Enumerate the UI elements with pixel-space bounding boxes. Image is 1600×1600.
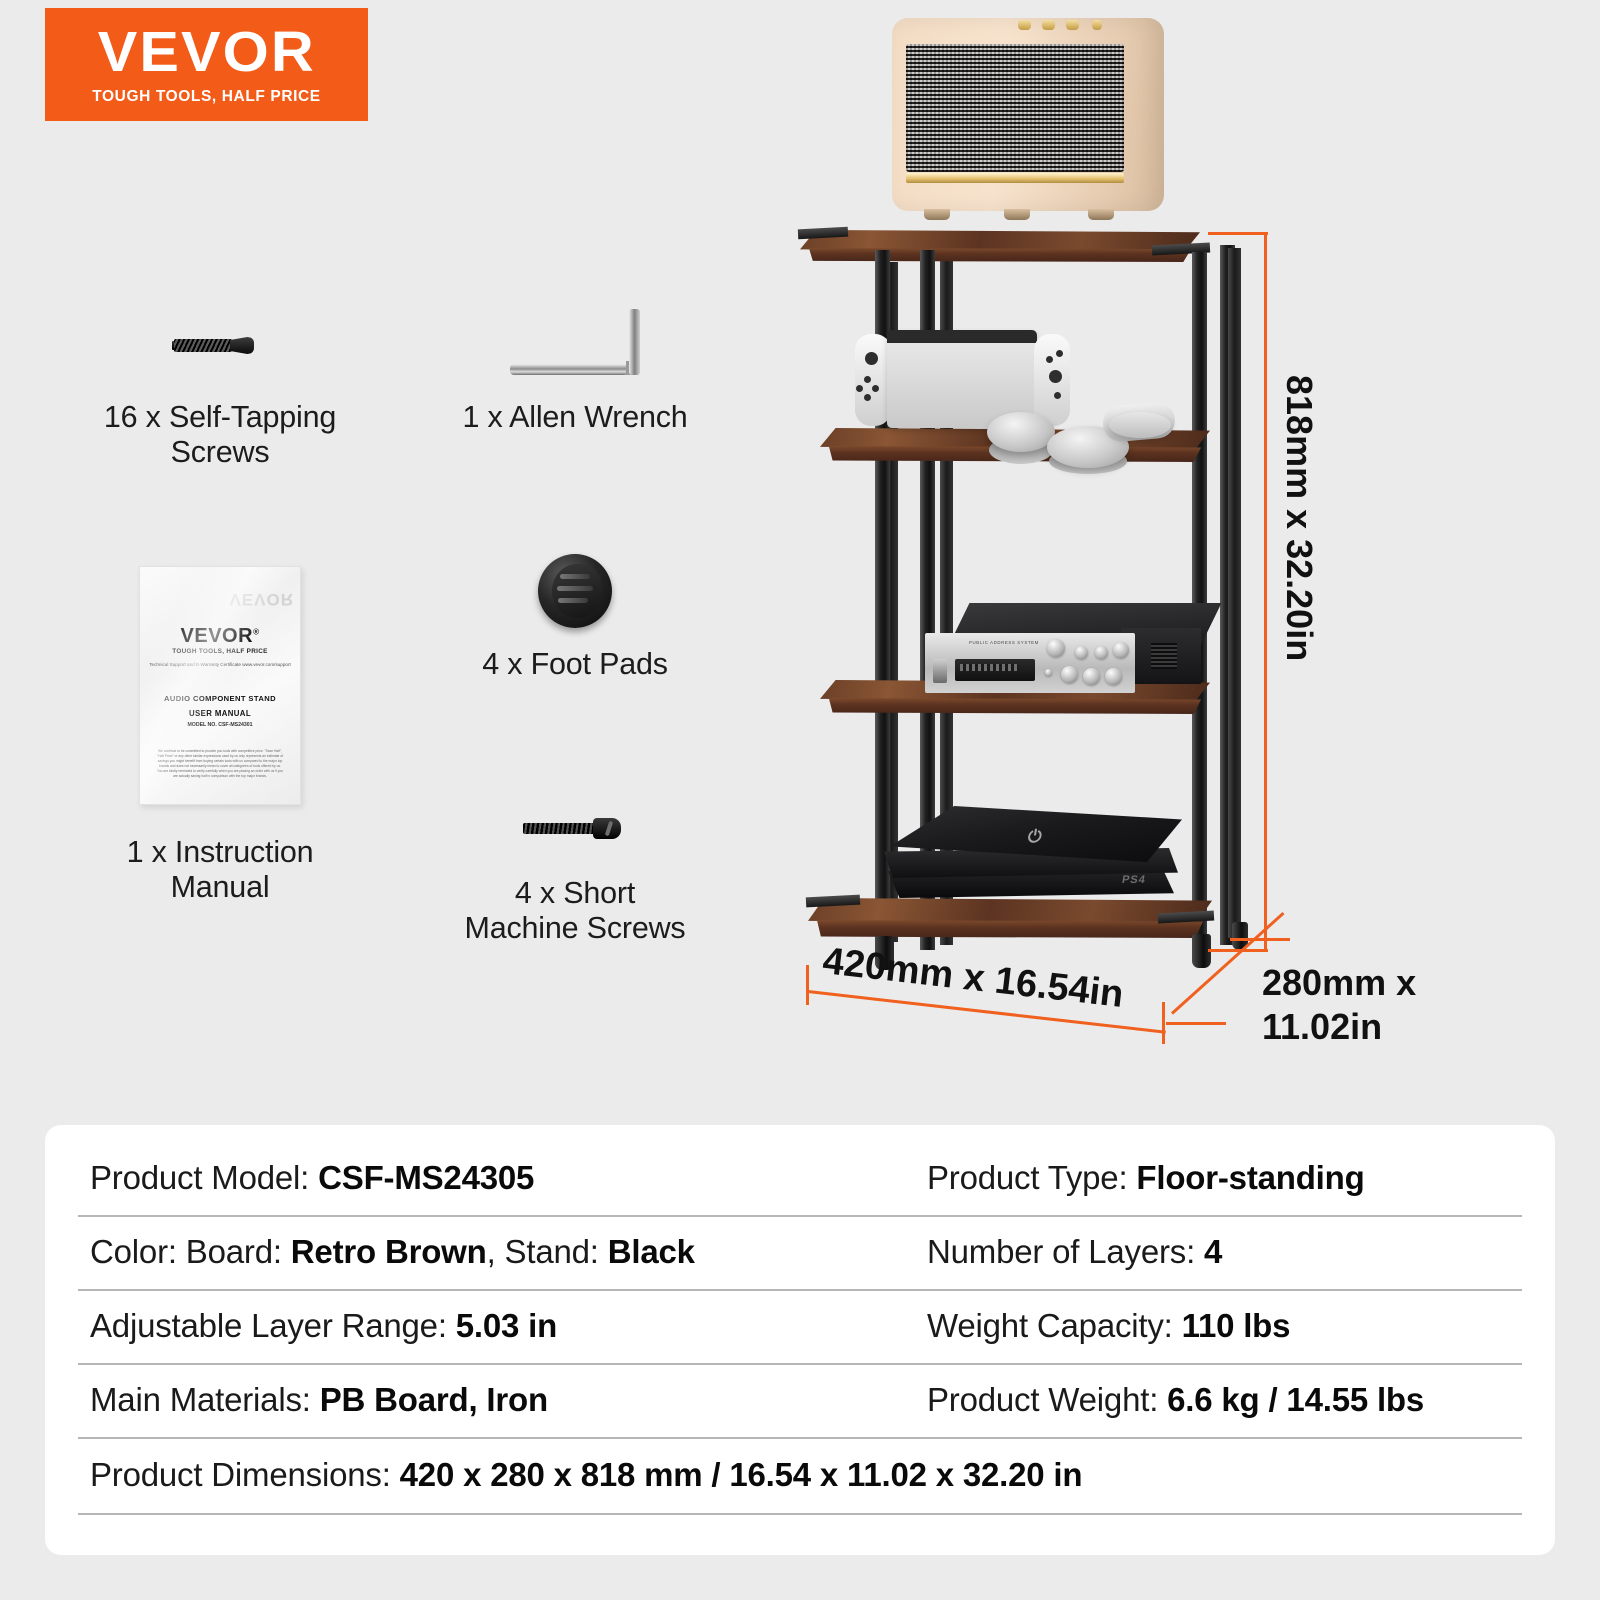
dimension-depth-label-line1: 280mm x: [1262, 963, 1416, 1003]
part-label-line1: 1 x Instruction: [40, 835, 400, 870]
spec-label: Weight Capacity:: [927, 1307, 1182, 1344]
spec-label: Main Materials:: [90, 1381, 320, 1418]
self-tapping-screw-icon: [40, 290, 400, 400]
spec-cell-layer-range: Adjustable Layer Range: 5.03 in: [78, 1307, 915, 1345]
part-label-line1: 4 x Foot Pads: [395, 647, 755, 682]
spec-value-2: Black: [608, 1233, 695, 1270]
spec-value: PB Board, Iron: [320, 1381, 548, 1418]
instruction-manual-icon: VEVOR VEVOR® TOUGH TOOLS, HALF PRICE Tec…: [40, 535, 400, 835]
spec-row-4: Main Materials: PB Board, Iron Product W…: [78, 1363, 1522, 1439]
frame-post-front-right: [1192, 252, 1207, 950]
part-item-instruction-manual: VEVOR VEVOR® TOUGH TOOLS, HALF PRICE Tec…: [40, 535, 400, 906]
part-label-line1: 4 x Short: [395, 876, 755, 911]
part-label-line2: Manual: [40, 870, 400, 905]
spec-row-5: Product Dimensions: 420 x 280 x 818 mm /…: [78, 1437, 1522, 1515]
part-label-line2: Machine Screws: [395, 911, 755, 946]
allen-wrench-icon: [395, 290, 755, 400]
brand-wordmark: VEVOR: [98, 24, 316, 81]
dim-tick-depth-bottom: [1166, 1022, 1226, 1025]
spec-label: Number of Layers:: [927, 1233, 1204, 1270]
spec-row-2: Color: Board: Retro Brown, Stand: Black …: [78, 1215, 1522, 1291]
spec-label: Product Dimensions:: [90, 1456, 400, 1493]
manual-support: Technical Support and E-Warranty Certifi…: [140, 662, 300, 669]
dim-tick-width-left: [806, 965, 809, 1005]
spec-label: Color: Board:: [90, 1233, 291, 1270]
retro-speaker: [892, 18, 1164, 211]
spec-label-2: , Stand:: [487, 1233, 608, 1270]
over-ear-headphones: [985, 390, 1185, 480]
black-game-console: ⏻ PS4: [860, 790, 1190, 930]
vevor-logo: VEVOR TOUGH TOOLS, HALF PRICE: [45, 8, 368, 121]
dim-tick-height-top: [1208, 232, 1268, 235]
spec-value: 4: [1204, 1233, 1222, 1270]
manual-model-line: MODEL NO. CSF-MS24301: [140, 722, 300, 728]
spec-cell-product-dimensions: Product Dimensions: 420 x 280 x 818 mm /…: [78, 1456, 1522, 1494]
part-item-foot-pads: 4 x Foot Pads: [395, 535, 755, 682]
spec-value: Retro Brown: [291, 1233, 487, 1270]
spec-label: Product Type:: [927, 1159, 1136, 1196]
manual-fineprint: We continue to be committed to provide y…: [156, 749, 284, 780]
part-label-line2: Screws: [40, 435, 400, 470]
frame-post-right-rear: [1228, 248, 1241, 938]
part-item-allen-wrench: 1 x Allen Wrench: [395, 290, 755, 435]
machine-screw-icon: [395, 780, 755, 876]
spec-row-3: Adjustable Layer Range: 5.03 in Weight C…: [78, 1289, 1522, 1365]
part-item-machine-screws: 4 x Short Machine Screws: [395, 780, 755, 947]
part-item-self-tapping-screws: 16 x Self-Tapping Screws: [40, 290, 400, 471]
dim-tick-width-right: [1162, 1002, 1165, 1044]
dimension-height-label: 818mm x 32.20in: [1278, 375, 1320, 661]
console-badge: PS4: [1121, 874, 1147, 886]
product-photo: PUBLIC ADDRESS SYSTEM: [780, 0, 1340, 1060]
spec-cell-product-model: Product Model: CSF-MS24305: [78, 1159, 915, 1197]
part-label-line1: 1 x Allen Wrench: [395, 400, 755, 435]
spec-label: Adjustable Layer Range:: [90, 1307, 456, 1344]
manual-ghost-logo: VEVOR: [229, 589, 294, 609]
spec-cell-materials: Main Materials: PB Board, Iron: [78, 1381, 915, 1419]
manual-subtitle: USER MANUAL: [140, 709, 300, 718]
spec-value: 420 x 280 x 818 mm / 16.54 x 11.02 x 32.…: [400, 1456, 1083, 1493]
spec-cell-product-weight: Product Weight: 6.6 kg / 14.55 lbs: [915, 1381, 1522, 1419]
spec-value: CSF-MS24305: [318, 1159, 534, 1196]
brand-tagline: TOUGH TOOLS, HALF PRICE: [92, 88, 321, 106]
spec-value: 6.6 kg / 14.55 lbs: [1167, 1381, 1424, 1418]
dimension-depth-label-line2: 11.02in: [1262, 1007, 1382, 1047]
spec-value: 110 lbs: [1182, 1307, 1291, 1344]
spec-cell-weight-capacity: Weight Capacity: 110 lbs: [915, 1307, 1522, 1345]
manual-logo: VEVOR®: [140, 625, 300, 648]
spec-row-1: Product Model: CSF-MS24305 Product Type:…: [78, 1141, 1522, 1217]
spec-table-card: Product Model: CSF-MS24305 Product Type:…: [45, 1125, 1555, 1555]
manual-tagline: TOUGH TOOLS, HALF PRICE: [140, 648, 300, 655]
dim-tick-depth-top: [1230, 938, 1290, 941]
manual-title: AUDIO COMPONENT STAND: [140, 694, 300, 703]
dim-line-height: [1264, 232, 1267, 952]
spec-cell-product-type: Product Type: Floor-standing: [915, 1159, 1522, 1197]
spec-value: 5.03 in: [456, 1307, 557, 1344]
stereo-amplifier: PUBLIC ADDRESS SYSTEM: [925, 603, 1201, 697]
foot-pad-icon: [395, 535, 755, 647]
spec-label: Product Weight:: [927, 1381, 1167, 1418]
speaker-grille: [906, 44, 1124, 172]
amp-faceplate-text: PUBLIC ADDRESS SYSTEM: [969, 640, 1039, 645]
infographic-canvas: VEVOR TOUGH TOOLS, HALF PRICE 16 x Self-…: [0, 0, 1600, 1600]
spec-value: Floor-standing: [1136, 1159, 1364, 1196]
spec-label: Product Model:: [90, 1159, 318, 1196]
spec-cell-layers: Number of Layers: 4: [915, 1233, 1522, 1271]
part-label-line1: 16 x Self-Tapping: [40, 400, 400, 435]
spec-cell-color: Color: Board: Retro Brown, Stand: Black: [78, 1233, 915, 1271]
